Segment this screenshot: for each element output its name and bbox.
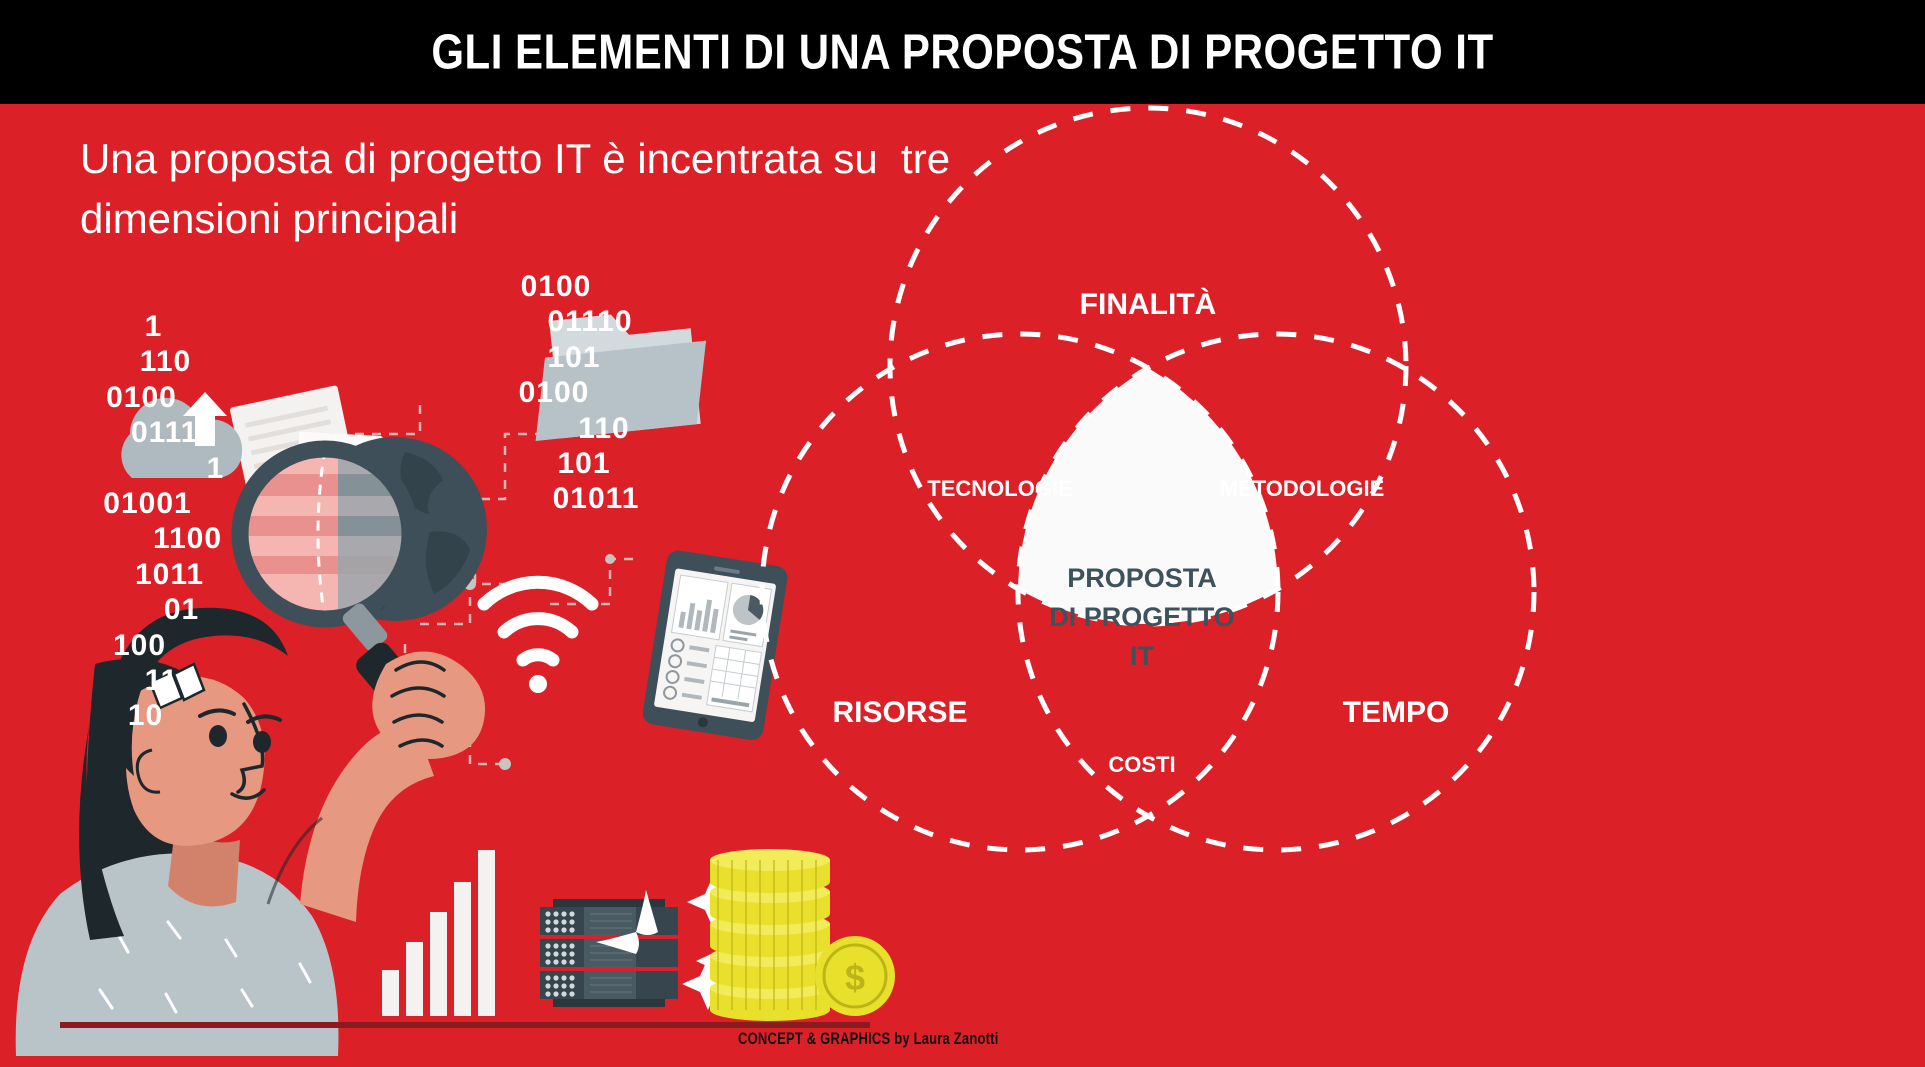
venn-diagram xyxy=(740,104,1925,1067)
center-line-3: IT xyxy=(1032,637,1252,676)
binary-line: 100 xyxy=(47,628,232,663)
infographic-page: GLI ELEMENTI DI UNA PROPOSTA DI PROGETTO… xyxy=(0,0,1925,1067)
binary-line: 01110 xyxy=(81,415,266,450)
server-rack-icon xyxy=(540,899,678,1007)
binary-line: 01001 xyxy=(55,486,240,521)
binary-stream-left: 1 110 0100 01110 1 01001 1100 1011 01 10… xyxy=(95,309,280,734)
bar-chart-icon xyxy=(382,850,495,1016)
binary-line: 11 xyxy=(69,663,254,698)
binary-line: 01 xyxy=(89,592,274,627)
binary-line: 0100 xyxy=(49,380,234,415)
binary-line: 0100 xyxy=(466,269,646,304)
wifi-dot-icon xyxy=(529,675,547,693)
header-bar: GLI ELEMENTI DI UNA PROPOSTA DI PROGETTO… xyxy=(0,0,1925,104)
binary-line: 1 xyxy=(123,451,308,486)
content-canvas: Una proposta di progetto IT è incentrata… xyxy=(0,104,1925,1067)
venn-center-label: PROPOSTA DI PROGETTO IT xyxy=(1032,559,1252,676)
binary-line: 0100 xyxy=(464,375,644,410)
venn-label-costi: COSTI xyxy=(1052,752,1232,778)
venn-label-tecnologie: TECNOLOGIE xyxy=(900,476,1100,502)
binary-line: 110 xyxy=(514,411,694,446)
binary-line: 110 xyxy=(73,344,258,379)
binary-line: 101 xyxy=(484,340,664,375)
binary-line: 101 xyxy=(494,446,674,481)
binary-line: 01110 xyxy=(500,304,680,339)
center-line-1: PROPOSTA xyxy=(1032,559,1252,598)
wifi-icon xyxy=(484,582,592,660)
binary-stream-right: 0100 01110 101 0100 110 101 01011 xyxy=(500,269,680,517)
binary-line: 10 xyxy=(53,698,238,733)
venn-label-risorse: RISORSE xyxy=(800,696,1000,730)
binary-line: 1 xyxy=(61,309,246,344)
venn-label-finalita: FINALITÀ xyxy=(1048,288,1248,322)
binary-line: 1100 xyxy=(95,521,280,556)
venn-label-metodologie: METODOLOGIE xyxy=(1192,476,1412,502)
center-line-2: DI PROGETTO xyxy=(1032,598,1252,637)
binary-line: 1011 xyxy=(77,557,262,592)
venn-label-tempo: TEMPO xyxy=(1296,696,1496,730)
hand-icon xyxy=(372,651,485,758)
page-title: GLI ELEMENTI DI UNA PROPOSTA DI PROGETTO… xyxy=(431,24,1493,81)
binary-line: 01011 xyxy=(506,481,686,516)
